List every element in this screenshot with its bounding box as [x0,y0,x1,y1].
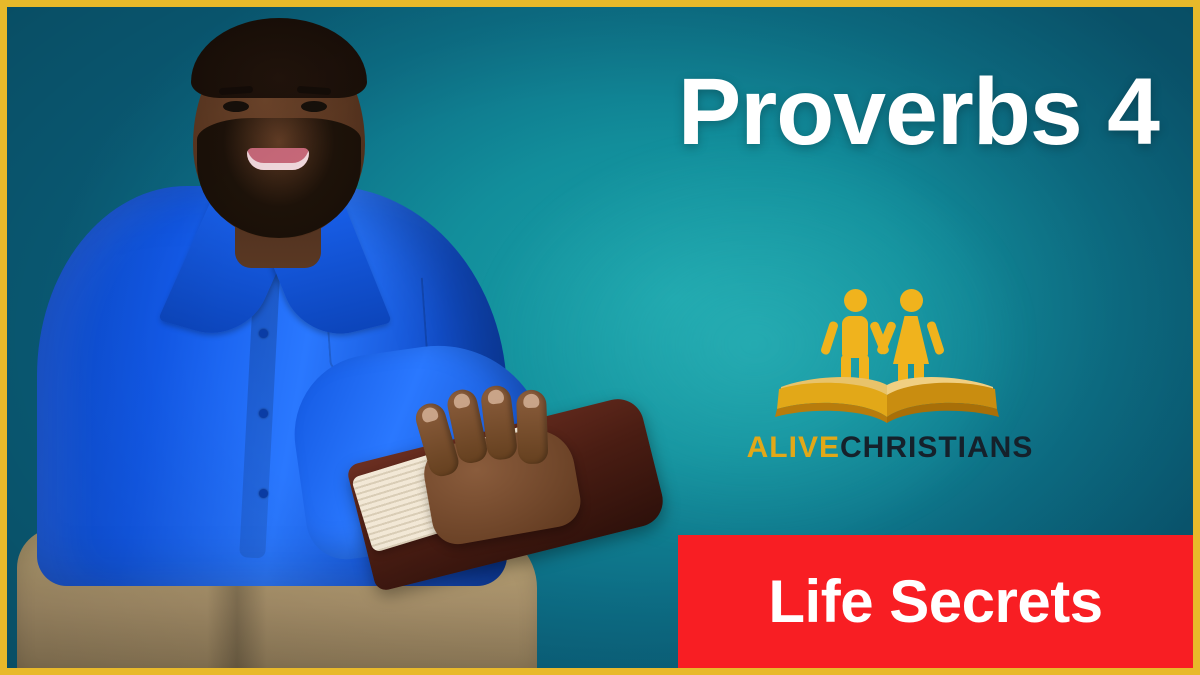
brand-name-part1: ALIVE [747,431,840,464]
figure-head [844,289,867,312]
figure-head [900,289,923,312]
figure-arm [820,320,839,355]
figure-body [842,316,868,358]
brand-logo: ALIVECHRISTIANS [725,289,1055,464]
subtitle-banner: Life Secrets [678,535,1193,668]
brand-name: ALIVECHRISTIANS [725,431,1055,465]
subtitle-text: Life Secrets [768,567,1102,636]
figure-arm [926,320,945,355]
figure-body [893,316,929,364]
video-thumbnail: Proverbs 4 [0,0,1200,675]
open-book-icon [773,375,1001,427]
brand-name-part2: CHRISTIANS [840,431,1033,464]
page-title: Proverbs 4 [678,65,1159,160]
